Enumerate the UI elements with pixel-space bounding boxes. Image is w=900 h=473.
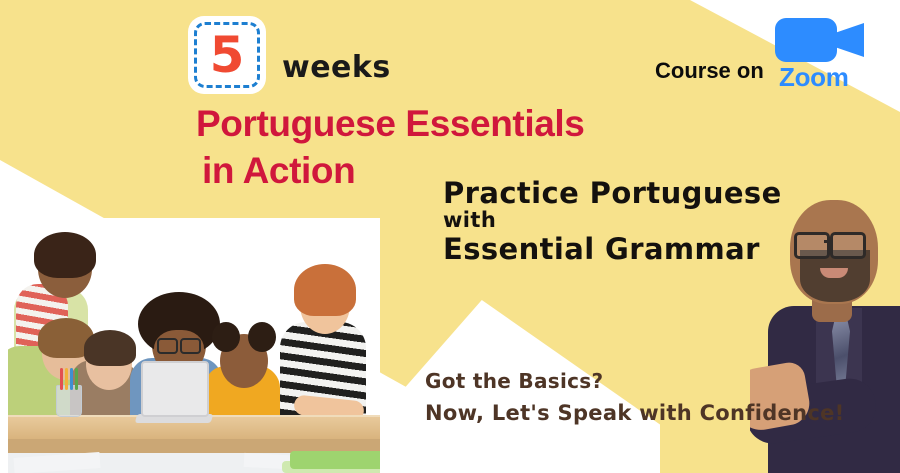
platform-prefix-label: Course on xyxy=(655,58,764,84)
book-stack-upper xyxy=(290,451,380,469)
course-description: Practice Portuguese with Essential Gramm… xyxy=(443,178,782,264)
presenter-glasses-bridge xyxy=(824,240,832,243)
student-yellow-puff-right xyxy=(248,322,276,352)
pencil-blue xyxy=(70,368,73,390)
tagline-line2: Now, Let's Speak with Confidence! xyxy=(425,397,845,430)
student-back-left-hair xyxy=(34,232,96,278)
pencil-green xyxy=(75,368,78,390)
description-line3: Essential Grammar xyxy=(443,234,782,264)
presenter-glasses-right xyxy=(830,232,866,259)
student-boy-hair xyxy=(84,330,136,366)
course-promo-banner: 5 weeks Portuguese Essentials in Action … xyxy=(0,0,900,473)
tagline-line1: Got the Basics? xyxy=(425,366,845,397)
duration-number: 5 xyxy=(188,16,266,94)
course-tagline: Got the Basics? Now, Let's Speak with Co… xyxy=(425,366,845,430)
zoom-wordmark: Zoom xyxy=(779,62,849,93)
video-camera-icon xyxy=(775,18,837,62)
course-title-line1: Portuguese Essentials xyxy=(196,103,584,144)
presenter-glasses-left xyxy=(794,232,830,259)
teacher-glasses-left xyxy=(157,338,178,354)
zoom-logo: Zoom xyxy=(775,18,885,90)
duration-badge: 5 xyxy=(188,16,266,94)
student-yellow-puff-left xyxy=(212,322,240,352)
teacher-glasses-right xyxy=(180,338,201,354)
students-photo xyxy=(8,218,380,473)
duration-unit-label: weeks xyxy=(282,50,391,85)
video-camera-lens-icon xyxy=(834,23,864,57)
description-line1: Practice Portuguese xyxy=(443,178,782,208)
description-line2: with xyxy=(443,210,782,232)
pencil-cup xyxy=(56,385,82,417)
pencil-red xyxy=(60,368,63,390)
tablet-device xyxy=(141,361,209,417)
student-striped-hair xyxy=(294,264,356,316)
pencil-yellow xyxy=(65,368,68,390)
photo-backdrop xyxy=(8,218,380,473)
